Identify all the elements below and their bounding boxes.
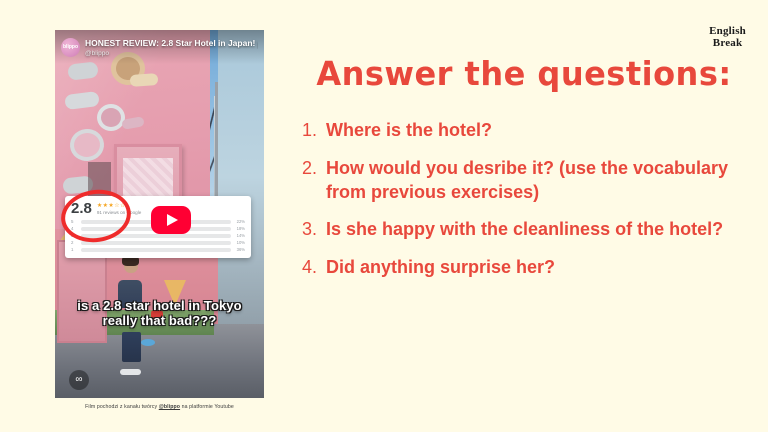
video-source-caption: Film pochodzi z kanału twórcy @blippo na… [55, 404, 264, 410]
list-item: 2. How would you desribe it? (use the vo… [300, 157, 748, 205]
rating-bar-label: 3 [71, 233, 78, 238]
caption-after: na platformie Youtube [180, 404, 234, 410]
rating-bar-row: 2 10% [71, 240, 245, 245]
rating-bar-pct: 22% [234, 219, 245, 224]
page-title: Answer the questions: [307, 54, 742, 93]
rating-bar-pct: 36% [234, 247, 245, 252]
rating-bar-track [81, 248, 231, 252]
list-item: 4. Did anything surprise her? [300, 256, 748, 280]
star-rating-icon: ★★★☆☆ [97, 202, 141, 209]
blue-prop [141, 339, 155, 346]
channel-handle[interactable]: @blippo [85, 50, 258, 57]
rating-bar-label: 5 [71, 219, 78, 224]
question-text: Is she happy with the cleanliness of the… [326, 218, 748, 242]
review-count: 91 reviews on Google [97, 210, 141, 215]
channel-avatar[interactable]: blippo [61, 38, 80, 57]
person-shoes [120, 369, 141, 375]
question-number: 3. [300, 218, 326, 242]
video-title: HONEST REVIEW: 2.8 Star Hotel in Japan! … [85, 38, 258, 49]
question-number: 2. [300, 157, 326, 181]
video-title-bar: blippo HONEST REVIEW: 2.8 Star Hotel in … [55, 30, 264, 64]
person-legs [122, 332, 141, 362]
loop-glyph: ∞ [75, 375, 82, 385]
rating-bar-label: 1 [71, 247, 78, 252]
reviews-meta: ★★★☆☆ 91 reviews on Google [97, 201, 141, 215]
question-text: Did anything surprise her? [326, 256, 748, 280]
video-title-group: HONEST REVIEW: 2.8 Star Hotel in Japan! … [85, 38, 258, 57]
list-item: 3. Is she happy with the cleanliness of … [300, 218, 748, 242]
rating-bar-track [81, 241, 231, 245]
caption-channel-link[interactable]: @blippo [159, 404, 180, 410]
facade-decoration [97, 104, 125, 131]
caption-before: Film pochodzi z kanału twórcy [85, 404, 159, 410]
question-text: Where is the hotel? [326, 119, 748, 143]
brand-logo-line1: English [709, 26, 746, 38]
question-number: 1. [300, 119, 326, 143]
question-text: How would you desribe it? (use the vocab… [326, 157, 748, 205]
rating-bar-pct: 18% [234, 226, 245, 231]
rating-score: 2.8 [71, 201, 92, 216]
play-triangle-icon [167, 214, 178, 226]
loop-icon[interactable]: ∞ [69, 370, 89, 390]
channel-avatar-label: blippo [63, 44, 78, 50]
rating-bar-label: 2 [71, 240, 78, 245]
video-player[interactable]: blippo HONEST REVIEW: 2.8 Star Hotel in … [55, 30, 264, 398]
list-item: 1. Where is the hotel? [300, 119, 748, 143]
rating-bar-track [81, 234, 231, 238]
subtitle-line-1: is a 2.8 star hotel in Tokyo [61, 298, 258, 313]
rating-bar-label: 4 [71, 226, 78, 231]
youtube-play-icon[interactable] [151, 206, 191, 234]
question-number: 4. [300, 256, 326, 280]
rating-bar-pct: 10% [234, 240, 245, 245]
questions-list: 1. Where is the hotel? 2. How would you … [300, 119, 748, 280]
rating-bar-pct: 14% [234, 233, 245, 238]
slide-content: Answer the questions: 1. Where is the ho… [300, 40, 748, 400]
rating-bar-row: 1 36% [71, 247, 245, 252]
video-subtitles: is a 2.8 star hotel in Tokyo really that… [55, 298, 264, 329]
subtitle-line-2: really that bad??? [61, 313, 258, 328]
